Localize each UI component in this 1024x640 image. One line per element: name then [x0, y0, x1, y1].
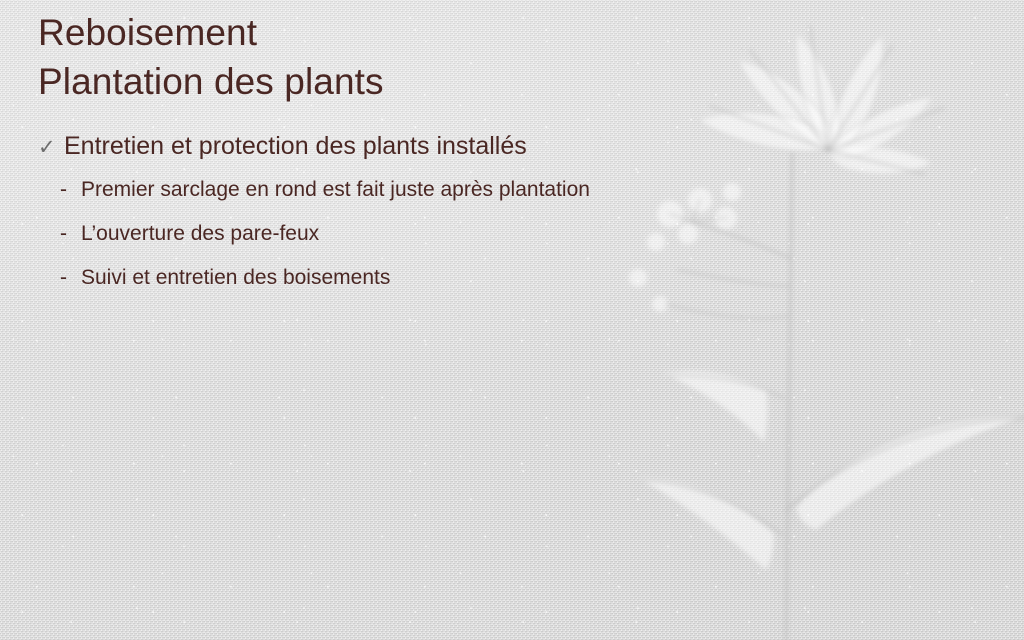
bullet-item-level1: ✓ Entretien et protection des plants ins… — [38, 126, 590, 168]
dash-bullet-icon: - — [60, 168, 81, 212]
slide-body: ✓ Entretien et protection des plants ins… — [38, 126, 590, 300]
bullet-item-level2: - Premier sarclage en rond est fait just… — [38, 168, 590, 212]
bullet-text: L’ouverture des pare-feux — [81, 212, 319, 256]
bullet-item-level2: - L’ouverture des pare-feux — [38, 212, 590, 256]
bullet-text: Entretien et protection des plants insta… — [64, 126, 527, 166]
bullet-item-level2: - Suivi et entretien des boisements — [38, 256, 590, 300]
checkmark-bullet-icon: ✓ — [38, 128, 64, 168]
title-line-1: Reboisement — [38, 8, 384, 57]
title-line-2: Plantation des plants — [38, 57, 384, 106]
bullet-text: Suivi et entretien des boisements — [81, 256, 390, 300]
slide-content: Reboisement Plantation des plants ✓ Entr… — [0, 0, 1024, 640]
bullet-text: Premier sarclage en rond est fait juste … — [81, 168, 590, 212]
slide-title: Reboisement Plantation des plants — [38, 8, 384, 106]
dash-bullet-icon: - — [60, 256, 81, 300]
presentation-slide: Reboisement Plantation des plants ✓ Entr… — [0, 0, 1024, 640]
dash-bullet-icon: - — [60, 212, 81, 256]
